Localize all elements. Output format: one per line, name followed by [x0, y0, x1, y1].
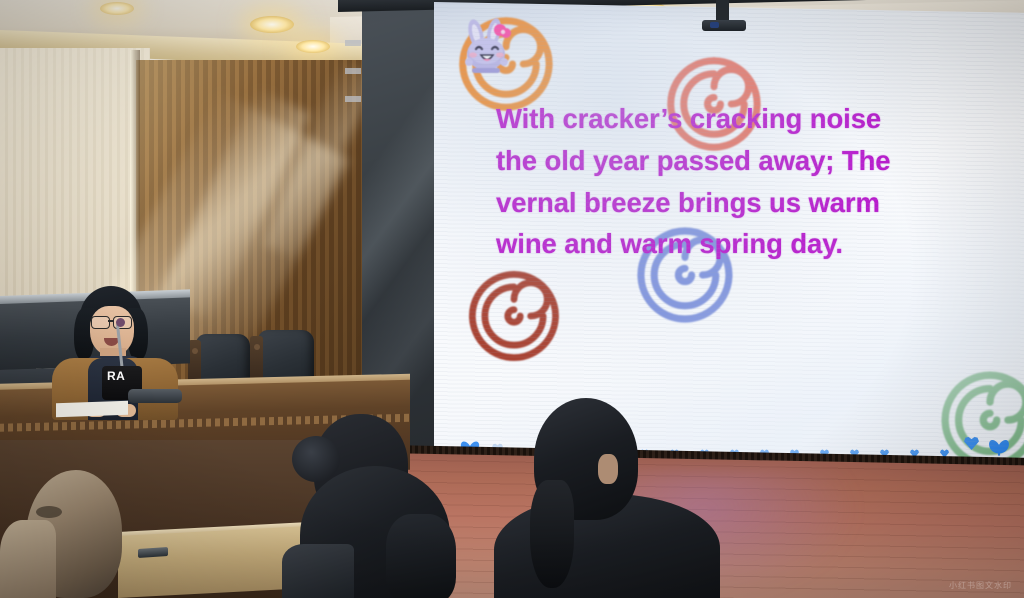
audience-cheek: [598, 454, 618, 484]
microphone-head-icon: [116, 318, 125, 327]
ceiling-downlight-icon: [250, 16, 294, 33]
watermark-text: 小红书图文水印: [949, 580, 1012, 591]
audience-ponytail: [530, 480, 574, 588]
chair-knob-icon: [192, 348, 198, 354]
audience-ponytail: [386, 514, 456, 598]
photo-scene: With cracker’s cracking noise the old ye…: [0, 0, 1024, 598]
audience-member-right: [494, 398, 724, 598]
microphone-desk-base: [128, 389, 182, 403]
eyeglasses-bridge: [108, 320, 114, 322]
hair-tie-icon: [36, 506, 62, 518]
ceiling-camera-icon: [702, 20, 746, 31]
audience-member-front-left: [0, 466, 140, 598]
camera-lens-icon: [710, 22, 719, 28]
audience-ponytail: [0, 520, 56, 598]
audience-member-center-front: [282, 466, 472, 598]
presenter-papers: [56, 401, 128, 418]
wall-bracket-set: [345, 40, 363, 150]
chair-knob-icon: [254, 344, 260, 350]
ceiling-downlight-icon: [100, 2, 134, 15]
eyeglasses-icon: [91, 316, 110, 329]
ceiling-downlight-icon: [296, 40, 330, 53]
mic-flag-label: RA: [107, 370, 125, 382]
audience-shoulder: [282, 544, 354, 598]
